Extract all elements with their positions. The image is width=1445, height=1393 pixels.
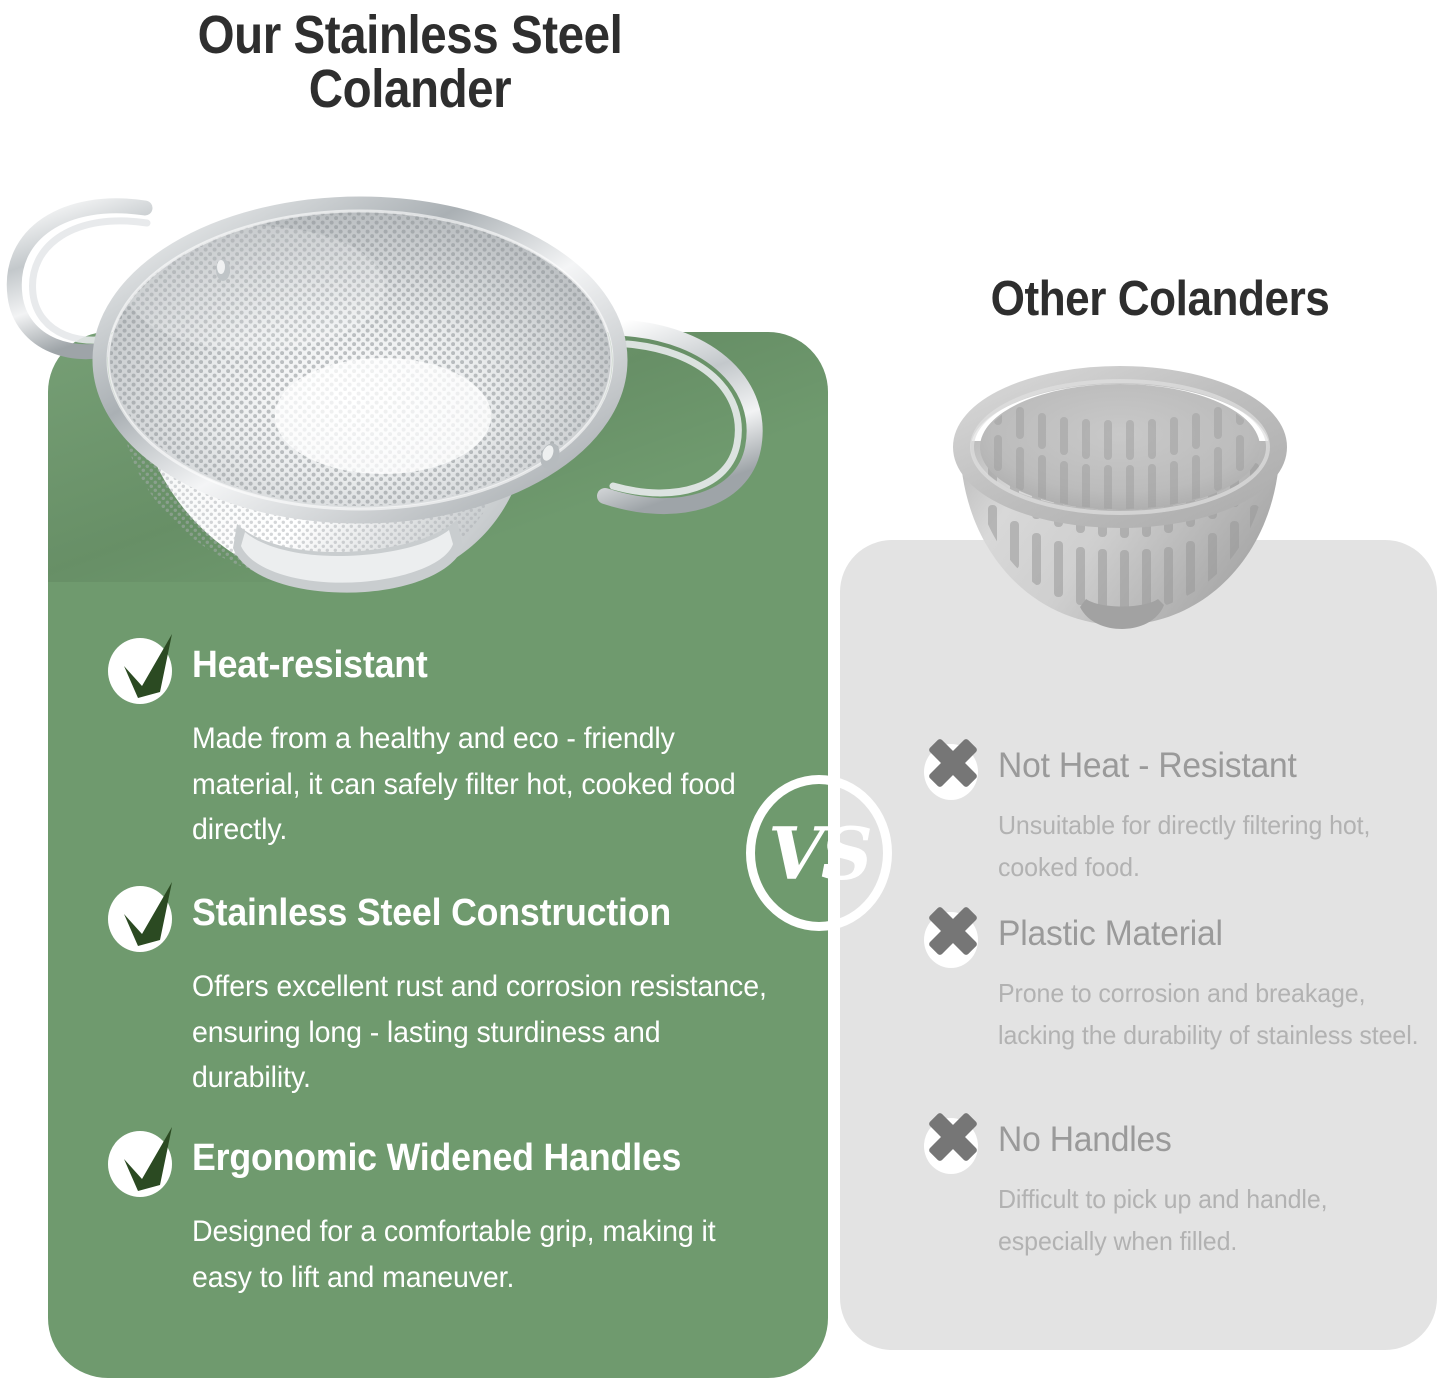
con-item-2-title: Plastic Material	[998, 912, 1223, 953]
check-icon	[108, 884, 174, 950]
pro-item-3: Ergonomic Widened Handles Designed for a…	[108, 1133, 808, 1300]
con-item-1-desc: Unsuitable for directly filtering hot, c…	[998, 804, 1424, 888]
pro-item-3-title: Ergonomic Widened Handles	[192, 1133, 681, 1178]
con-item-2: Plastic Material Prone to corrosion and …	[922, 912, 1442, 1056]
vs-label: VS	[746, 775, 892, 931]
pro-item-2: Stainless Steel Construction Offers exce…	[108, 888, 808, 1101]
x-icon	[922, 1110, 984, 1172]
con-item-3-title: No Handles	[998, 1118, 1172, 1159]
x-icon	[922, 736, 984, 798]
pro-item-2-title: Stainless Steel Construction	[192, 888, 671, 933]
con-item-2-desc: Prone to corrosion and breakage, lacking…	[998, 972, 1424, 1056]
pro-item-1-desc: Made from a healthy and eco - friendly m…	[192, 716, 777, 853]
check-icon	[108, 636, 174, 702]
gray-plastic-colander-image	[930, 355, 1310, 655]
con-item-3-desc: Difficult to pick up and handle, especia…	[998, 1178, 1424, 1262]
right-product-heading: Other Colanders	[908, 275, 1412, 324]
stainless-steel-colander-image	[5, 148, 805, 598]
pro-item-1: Heat-resistant Made from a healthy and e…	[108, 640, 808, 853]
check-icon	[108, 1129, 174, 1195]
con-item-3: No Handles Difficult to pick up and hand…	[922, 1118, 1442, 1262]
con-item-1: Not Heat - Resistant Unsuitable for dire…	[922, 744, 1442, 888]
left-product-heading: Our Stainless Steel Colander	[133, 8, 687, 116]
comparison-infographic: Our Stainless Steel Colander Other Colan…	[0, 0, 1445, 1393]
pro-item-3-desc: Designed for a comfortable grip, making …	[192, 1209, 777, 1300]
x-icon	[922, 904, 984, 966]
pro-item-1-title: Heat-resistant	[192, 640, 428, 685]
pro-item-2-desc: Offers excellent rust and corrosion resi…	[192, 964, 777, 1101]
con-item-1-title: Not Heat - Resistant	[998, 744, 1297, 785]
